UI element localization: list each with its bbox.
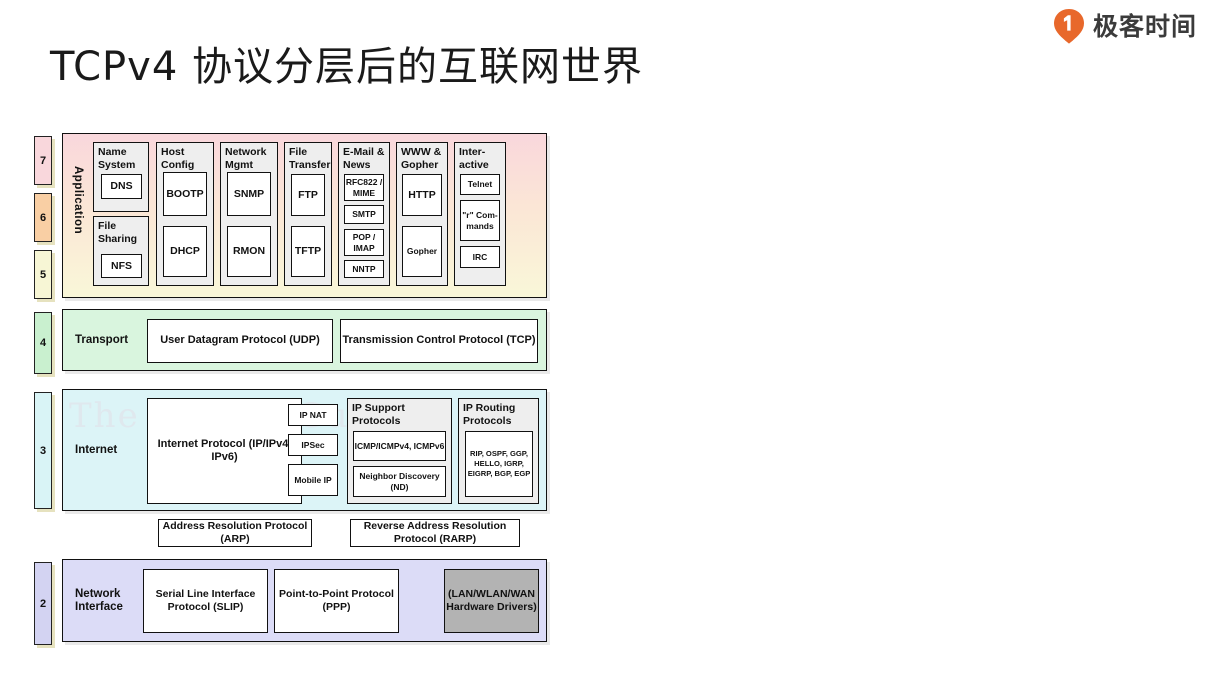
internet-box-neighbor-discovery: Neighbor Discovery (ND): [353, 466, 446, 497]
item-label: Telnet: [468, 179, 492, 189]
layer-number-3: 3: [34, 392, 52, 509]
group-title: IP Routing Protocols: [463, 402, 538, 427]
layer-number-label: 3: [40, 445, 46, 457]
app-item-telnet: Telnet: [460, 174, 500, 195]
item-label: FTP: [298, 189, 318, 202]
app-item-bootp: BOOTP: [163, 172, 207, 216]
app-item-ftp: FTP: [291, 174, 325, 216]
item-label: "r" Com-mands: [461, 210, 499, 230]
ni-box-slip: Serial Line Interface Protocol (SLIP): [143, 569, 268, 633]
box-label: IPSec: [301, 440, 324, 450]
box-label: Point-to-Point Protocol (PPP): [275, 588, 398, 613]
box-label: User Datagram Protocol (UDP): [160, 334, 320, 347]
item-label: NFS: [111, 260, 132, 273]
layer-number-label: 7: [40, 155, 46, 167]
group-title: File Transfer: [289, 146, 331, 171]
app-item-r-commands: "r" Com-mands: [460, 200, 500, 241]
app-item-dns: DNS: [101, 174, 142, 199]
group-title: File Sharing: [98, 220, 148, 245]
item-label: Gopher: [407, 246, 437, 256]
brand-logo: 极客时间: [1053, 8, 1197, 44]
box-label: Transmission Control Protocol (TCP): [342, 334, 535, 347]
internet-box-ip: Internet Protocol (IP/IPv4, IPv6): [147, 398, 302, 504]
arp-box: Address Resolution Protocol (ARP): [158, 519, 312, 547]
internet-box-routing-protocols: RIP, OSPF, GGP, HELLO, IGRP, EIGRP, BGP,…: [465, 431, 533, 497]
item-label: TFTP: [295, 245, 321, 258]
layer-number-label: 5: [40, 269, 46, 281]
box-label: Mobile IP: [294, 475, 331, 485]
group-title: IP Support Protocols: [352, 402, 451, 427]
internet-box-icmp: ICMP/ICMPv4, ICMPv6: [353, 431, 446, 461]
layer-number-7: 7: [34, 136, 52, 185]
page-title: TCPv4 协议分层后的互联网世界: [50, 34, 643, 92]
group-title: E-Mail & News: [343, 146, 389, 171]
item-label: DHCP: [170, 245, 200, 258]
item-label: SNMP: [234, 188, 264, 201]
network-interface-band: Network Interface Serial Line Interface …: [62, 559, 547, 642]
app-item-smtp: SMTP: [344, 205, 384, 224]
box-label: (LAN/WLAN/WAN Hardware Drivers): [445, 588, 538, 613]
app-item-snmp: SNMP: [227, 172, 271, 216]
layer-number-2: 2: [34, 562, 52, 645]
internet-box-mobile-ip: Mobile IP: [288, 464, 338, 496]
network-interface-label: Network Interface: [75, 588, 135, 614]
box-label: Reverse Address Resolution Protocol (RAR…: [351, 520, 519, 545]
layer-number-label: 2: [40, 598, 46, 610]
internet-box-ip-nat: IP NAT: [288, 404, 338, 426]
item-label: NNTP: [352, 264, 375, 274]
internet-box-ipsec: IPSec: [288, 434, 338, 456]
box-label: IP NAT: [299, 410, 326, 420]
group-title: Name System: [98, 146, 148, 171]
layer-number-4: 4: [34, 312, 52, 374]
application-layer-label: Application: [72, 166, 84, 234]
group-title: Inter-active: [459, 146, 505, 171]
app-item-dhcp: DHCP: [163, 226, 207, 277]
layer-number-6: 6: [34, 193, 52, 242]
app-item-rfc822-mime: RFC822 / MIME: [344, 174, 384, 201]
item-label: DNS: [110, 180, 132, 193]
internet-layer-band: The TCP/IP Guide Internet Internet Proto…: [62, 389, 547, 511]
app-item-http: HTTP: [402, 174, 442, 216]
brand-name: 极客时间: [1093, 14, 1197, 39]
box-label: Internet Protocol (IP/IPv4, IPv6): [148, 438, 301, 464]
app-item-irc: IRC: [460, 246, 500, 268]
group-title: Network Mgmt: [225, 146, 277, 171]
rarp-box: Reverse Address Resolution Protocol (RAR…: [350, 519, 520, 547]
box-label: RIP, OSPF, GGP, HELLO, IGRP, EIGRP, BGP,…: [466, 449, 532, 480]
box-label: Neighbor Discovery (ND): [354, 471, 445, 491]
item-label: RMON: [233, 245, 265, 258]
item-label: RFC822 / MIME: [345, 177, 383, 197]
layer-number-label: 6: [40, 212, 46, 224]
transport-box-tcp: Transmission Control Protocol (TCP): [340, 319, 538, 363]
jikeshijian-pin-logo-icon: [1053, 8, 1085, 44]
ni-box-hardware-drivers: (LAN/WLAN/WAN Hardware Drivers): [444, 569, 539, 633]
item-label: BOOTP: [166, 188, 203, 201]
ni-box-ppp: Point-to-Point Protocol (PPP): [274, 569, 399, 633]
item-label: SMTP: [352, 209, 376, 219]
app-item-nfs: NFS: [101, 254, 142, 278]
app-item-pop-imap: POP / IMAP: [344, 229, 384, 256]
transport-layer-label: Transport: [75, 334, 128, 347]
app-item-nntp: NNTP: [344, 260, 384, 278]
transport-box-udp: User Datagram Protocol (UDP): [147, 319, 333, 363]
app-item-gopher: Gopher: [402, 226, 442, 277]
group-title: WWW & Gopher: [401, 146, 447, 171]
item-label: POP / IMAP: [345, 232, 383, 252]
box-label: Serial Line Interface Protocol (SLIP): [144, 588, 267, 613]
app-item-rmon: RMON: [227, 226, 271, 277]
layer-number-label: 4: [40, 337, 46, 349]
internet-layer-label: Internet: [75, 444, 117, 457]
application-layer-band: Application Name System DNS File Sharing…: [62, 133, 547, 298]
tcpip-layer-diagram: 7 6 5 4 3 2 Application Name System DNS …: [34, 133, 554, 649]
app-item-tftp: TFTP: [291, 226, 325, 277]
item-label: IRC: [473, 252, 488, 262]
box-label: ICMP/ICMPv4, ICMPv6: [355, 441, 445, 451]
label-text: Network Interface: [75, 588, 123, 613]
item-label: HTTP: [408, 189, 435, 202]
layer-number-5: 5: [34, 250, 52, 299]
group-title: Host Config: [161, 146, 213, 171]
transport-layer-band: Transport User Datagram Protocol (UDP) T…: [62, 309, 547, 371]
box-label: Address Resolution Protocol (ARP): [159, 520, 311, 545]
